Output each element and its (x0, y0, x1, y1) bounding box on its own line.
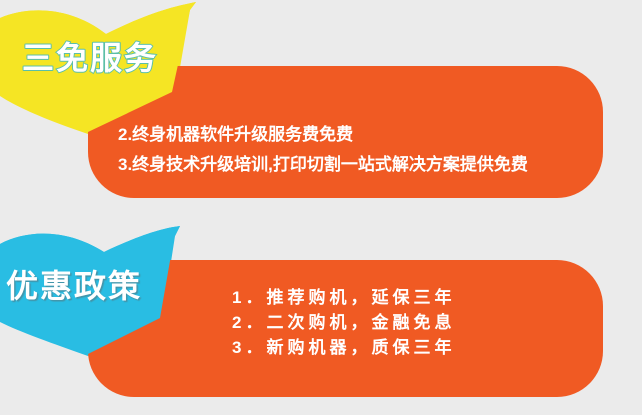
policy-benefit-item: 3．新购机器，质保三年 (232, 335, 455, 360)
service-benefit-list: 2.终身机器软件升级服务费免费 3.终身技术升级培训,打印切割一站式解决方案提供… (118, 120, 528, 180)
policy-section-title: 优惠政策 (6, 270, 142, 302)
service-section-title: 三免服务 (22, 42, 158, 74)
service-benefit-item: 3.终身技术升级培训,打印切割一站式解决方案提供免费 (118, 150, 528, 180)
service-benefit-item: 2.终身机器软件升级服务费免费 (118, 120, 528, 150)
policy-benefit-list: 1．推荐购机，延保三年 2．二次购机，金融免息 3．新购机器，质保三年 (232, 285, 455, 360)
policy-benefit-item: 1．推荐购机，延保三年 (232, 285, 455, 310)
policy-benefit-item: 2．二次购机，金融免息 (232, 310, 455, 335)
promo-poster: 三免服务 优惠政策 2.终身机器软件升级服务费免费 3.终身技术升级培训,打印切… (0, 0, 642, 415)
